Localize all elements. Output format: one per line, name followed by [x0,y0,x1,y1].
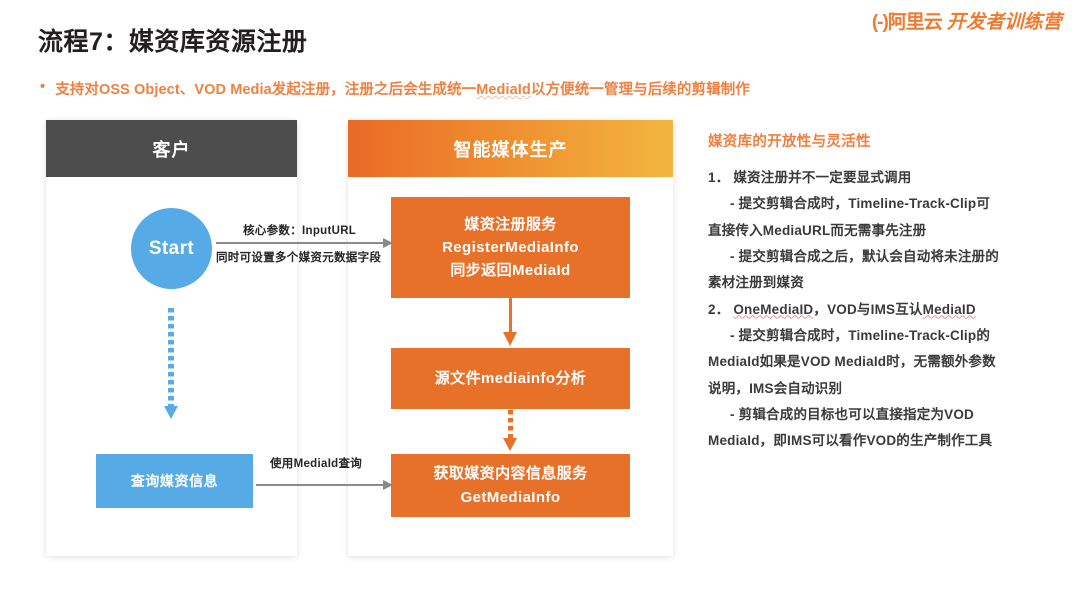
note-item: MediaId，即IMS可以看作VOD的生产制作工具 [708,428,1070,454]
arrowhead-right-icon [383,238,393,248]
connector-query-to-getmedia [256,484,386,486]
query-media-node[interactable]: 查询媒资信息 [96,454,253,508]
arrow1-top-label: 核心参数：InputURL [243,222,356,238]
note-item: MediaId如果是VOD MediaId时，无需额外参数 [708,349,1070,375]
media-production-panel-header: 智能媒体生产 [348,120,673,177]
arrowhead-down-icon [503,438,517,451]
mediainfo-analysis-node[interactable]: 源文件mediainfo分析 [391,348,630,409]
summary-bullet: • 支持对OSS Object、VOD Media发起注册，注册之后会生成统一M… [40,78,750,99]
connector-register-to-mediainfo [509,298,512,335]
note-item-prefix: 2． [708,302,733,317]
note-item-onemediaid: 2． OneMediaID，VOD与IMS互认MediaID [708,297,1070,323]
note-wavy-onemediaid: OneMediaID [733,302,813,317]
page-title: 流程7：媒资库资源注册 [38,22,307,58]
note-item: - 提交剪辑合成时，Timeline-Track-Clip可 [708,191,1070,217]
note-item: 1． 媒资注册并不一定要显式调用 [708,165,1070,191]
register-media-line1: 媒资注册服务 [464,213,556,236]
connector-start-to-register [216,242,386,244]
register-media-line3: 同步返回MediaId [450,259,570,282]
get-media-info-line1: 获取媒资内容信息服务 [433,462,587,485]
customer-panel-header: 客户 [46,120,297,177]
arrow1-bottom-label: 同时可设置多个媒资元数据字段 [216,249,381,265]
note-item: - 提交剪辑合成之后，默认会自动将未注册的 [708,244,1070,270]
brand-logo: (-)阿里云 开发者训练营 [872,7,1062,34]
arrow2-label: 使用MediaId查询 [270,455,362,471]
summary-bullet-text: 支持对OSS Object、VOD Media发起注册，注册之后会生成统一Med… [55,78,750,99]
start-node[interactable]: Start [131,208,212,289]
developer-camp-logo-text: 开发者训练营 [947,7,1062,34]
register-media-node[interactable]: 媒资注册服务 RegisterMediaInfo 同步返回MediaId [391,197,630,298]
get-media-info-line2: GetMediaInfo [461,486,561,509]
notes-title: 媒资库的开放性与灵活性 [708,130,1070,151]
note-item-mid: ，VOD与IMS互认 [813,302,922,317]
connector-start-to-query [168,308,174,408]
bullet-segment-a: 支持对OSS Object、VOD Media发起注册，注册之后会生成统一 [55,82,476,98]
notes-column: 媒资库的开放性与灵活性 1． 媒资注册并不一定要显式调用 - 提交剪辑合成时，T… [708,130,1070,454]
note-item: 素材注册到媒资 [708,270,1070,296]
bullet-dot-icon: • [40,80,45,95]
note-item: - 剪辑合成的目标也可以直接指定为VOD [708,402,1070,428]
arrowhead-right-icon [383,480,393,490]
arrowhead-down-icon [164,406,178,419]
bullet-segment-mediaid: MediaId [476,82,531,98]
note-item: - 提交剪辑合成时，Timeline-Track-Clip的 [708,323,1070,349]
alibaba-cloud-logo-text: (-)阿里云 [872,7,942,34]
bullet-segment-c: 以方便统一管理与后续的剪辑制作 [531,82,750,98]
get-media-info-node[interactable]: 获取媒资内容信息服务 GetMediaInfo [391,454,630,517]
mediainfo-analysis-label: 源文件mediainfo分析 [435,367,586,390]
arrowhead-down-icon [503,332,517,346]
register-media-line2: RegisterMediaInfo [442,236,579,259]
note-item: 说明，IMS会自动识别 [708,376,1070,402]
note-item: 直接传入MediaURL而无需事先注册 [708,218,1070,244]
note-wavy-mediaid: MediaID [923,302,976,317]
